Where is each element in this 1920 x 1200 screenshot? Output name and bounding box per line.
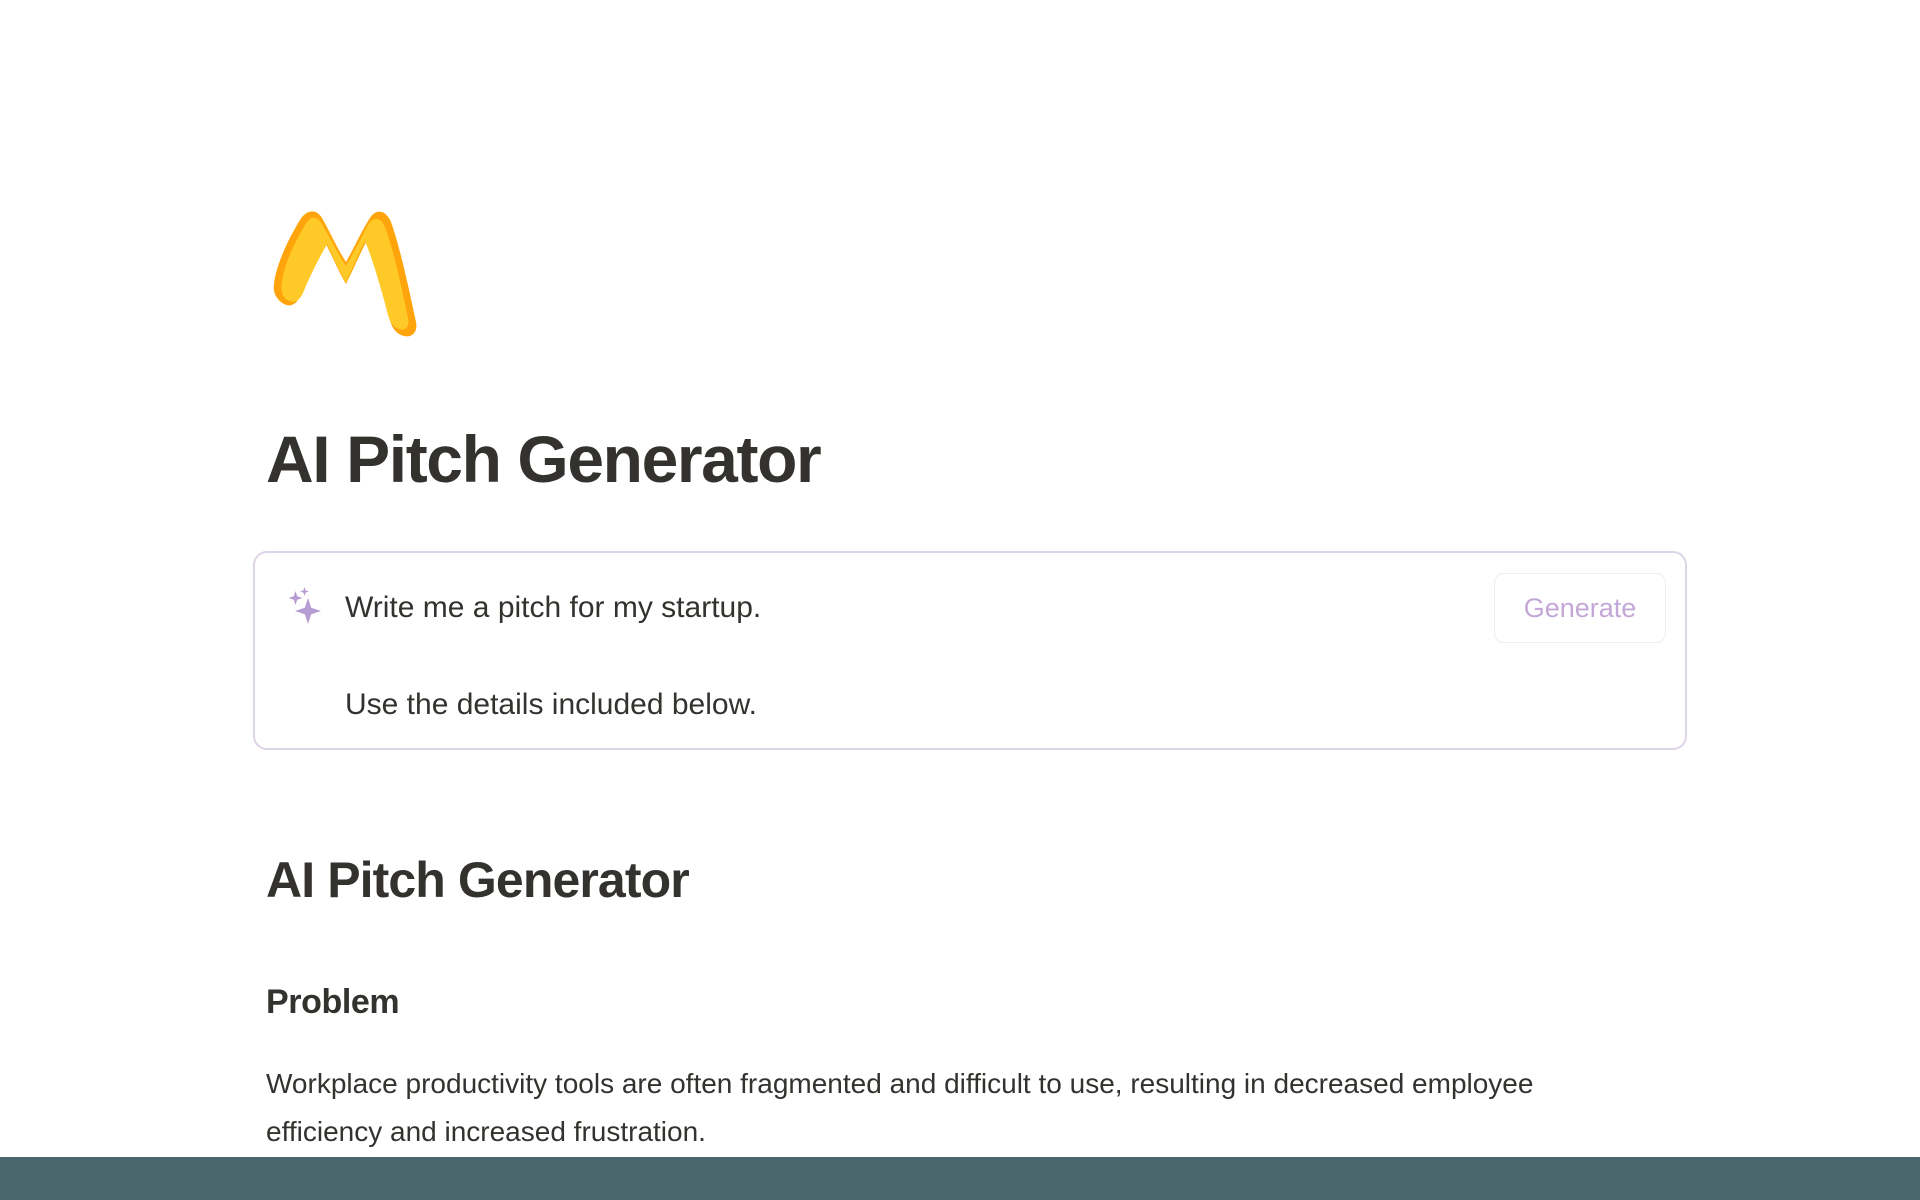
prompt-row: Write me a pitch for my startup. Use the… [255, 553, 1685, 748]
mem-m-logo-icon [266, 198, 426, 343]
prompt-box[interactable]: Write me a pitch for my startup. Use the… [253, 551, 1687, 750]
section-body-problem: Workplace productivity tools are often f… [266, 1060, 1636, 1156]
section-heading-problem: Problem [266, 985, 399, 1019]
prompt-text-line-1: Write me a pitch for my startup. [345, 588, 761, 628]
sparkle-icon [282, 585, 326, 629]
page-title: AI Pitch Generator [266, 426, 820, 492]
document-title: AI Pitch Generator [266, 855, 689, 905]
bottom-bar [0, 1157, 1920, 1200]
app-page: AI Pitch Generator Write me a pitch for … [0, 0, 1920, 1200]
generate-button[interactable]: Generate [1494, 573, 1666, 643]
prompt-text-line-2: Use the details included below. [345, 685, 757, 725]
